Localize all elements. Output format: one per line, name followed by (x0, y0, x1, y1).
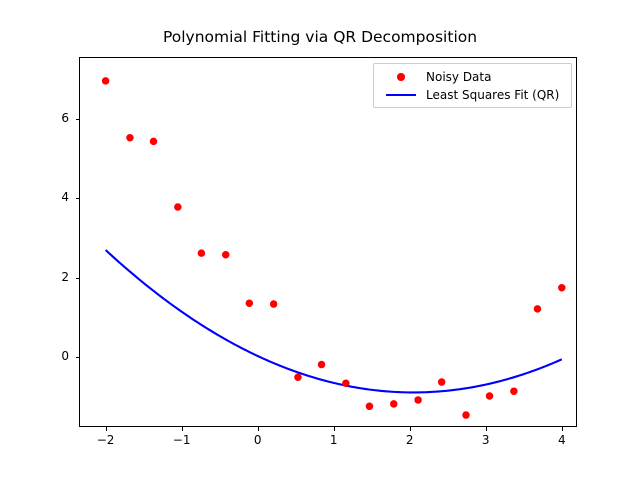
x-tick-mark (182, 427, 183, 431)
x-tick-mark (410, 427, 411, 431)
data-point (198, 249, 206, 257)
fit-line (106, 250, 562, 392)
data-point (294, 374, 302, 382)
y-tick-mark (76, 357, 80, 358)
y-tick-mark (76, 198, 80, 199)
x-tick-label: −2 (86, 433, 126, 447)
x-tick-mark (562, 427, 563, 431)
data-point (102, 77, 110, 85)
data-point (534, 305, 542, 313)
chart-legend: Noisy Data Least Squares Fit (QR) (373, 63, 572, 108)
data-point (126, 134, 134, 142)
chart-figure: Polynomial Fitting via QR Decomposition … (0, 0, 640, 480)
x-tick-mark (106, 427, 107, 431)
line-swatch-icon (380, 94, 422, 96)
data-point (270, 300, 278, 308)
data-point (222, 251, 230, 258)
legend-label: Least Squares Fit (QR) (422, 88, 559, 102)
chart-title: Polynomial Fitting via QR Decomposition (0, 28, 640, 46)
plot-canvas (79, 57, 577, 427)
data-point (558, 284, 566, 292)
y-tick-mark (76, 278, 80, 279)
data-point (510, 387, 518, 395)
y-tick-label: 0 (39, 349, 69, 363)
data-point (438, 378, 446, 386)
data-point (486, 392, 494, 400)
x-tick-label: 1 (314, 433, 354, 447)
data-point (150, 138, 158, 146)
data-point-series (102, 77, 566, 419)
legend-label: Noisy Data (422, 70, 491, 84)
x-tick-label: 4 (542, 433, 582, 447)
data-point (390, 400, 398, 408)
data-point (246, 300, 254, 308)
data-point (462, 411, 470, 419)
x-tick-label: −1 (162, 433, 202, 447)
x-tick-label: 2 (390, 433, 430, 447)
circle-marker-icon (380, 73, 422, 81)
data-point (174, 203, 182, 211)
x-tick-mark (258, 427, 259, 431)
y-tick-label: 6 (39, 111, 69, 125)
data-point (414, 396, 422, 404)
fit-line-series (106, 250, 562, 392)
data-point (342, 379, 350, 387)
data-point (366, 403, 374, 411)
x-tick-mark (486, 427, 487, 431)
legend-entry-noisy-data: Noisy Data (380, 68, 565, 86)
data-point (318, 361, 326, 369)
x-tick-label: 0 (238, 433, 278, 447)
y-tick-mark (76, 119, 80, 120)
x-tick-mark (334, 427, 335, 431)
x-tick-label: 3 (466, 433, 506, 447)
y-tick-label: 4 (39, 190, 69, 204)
y-tick-label: 2 (39, 270, 69, 284)
legend-entry-least-squares-fit: Least Squares Fit (QR) (380, 86, 565, 104)
